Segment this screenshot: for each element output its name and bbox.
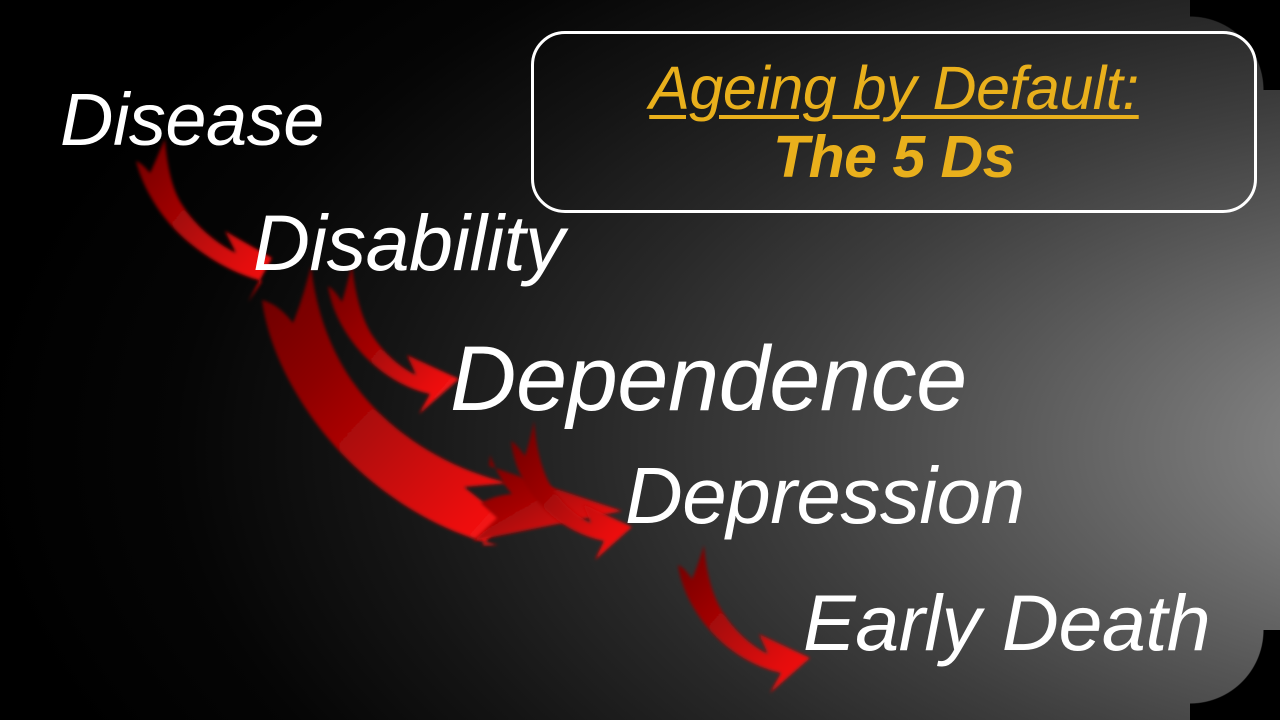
node-label-early-death: Early Death bbox=[803, 583, 1210, 662]
title-line-primary: Ageing by Default: bbox=[649, 58, 1138, 119]
slide-canvas: Ageing by Default: The 5 Ds Disease Disa… bbox=[0, 0, 1280, 720]
node-label-depression: Depression bbox=[625, 456, 1025, 536]
node-label-dependence: Dependence bbox=[450, 333, 967, 425]
title-line-secondary: The 5 Ds bbox=[773, 128, 1015, 187]
node-label-disease: Disease bbox=[60, 83, 324, 157]
node-label-disability: Disability bbox=[253, 203, 564, 282]
title-card: Ageing by Default: The 5 Ds bbox=[531, 31, 1257, 213]
